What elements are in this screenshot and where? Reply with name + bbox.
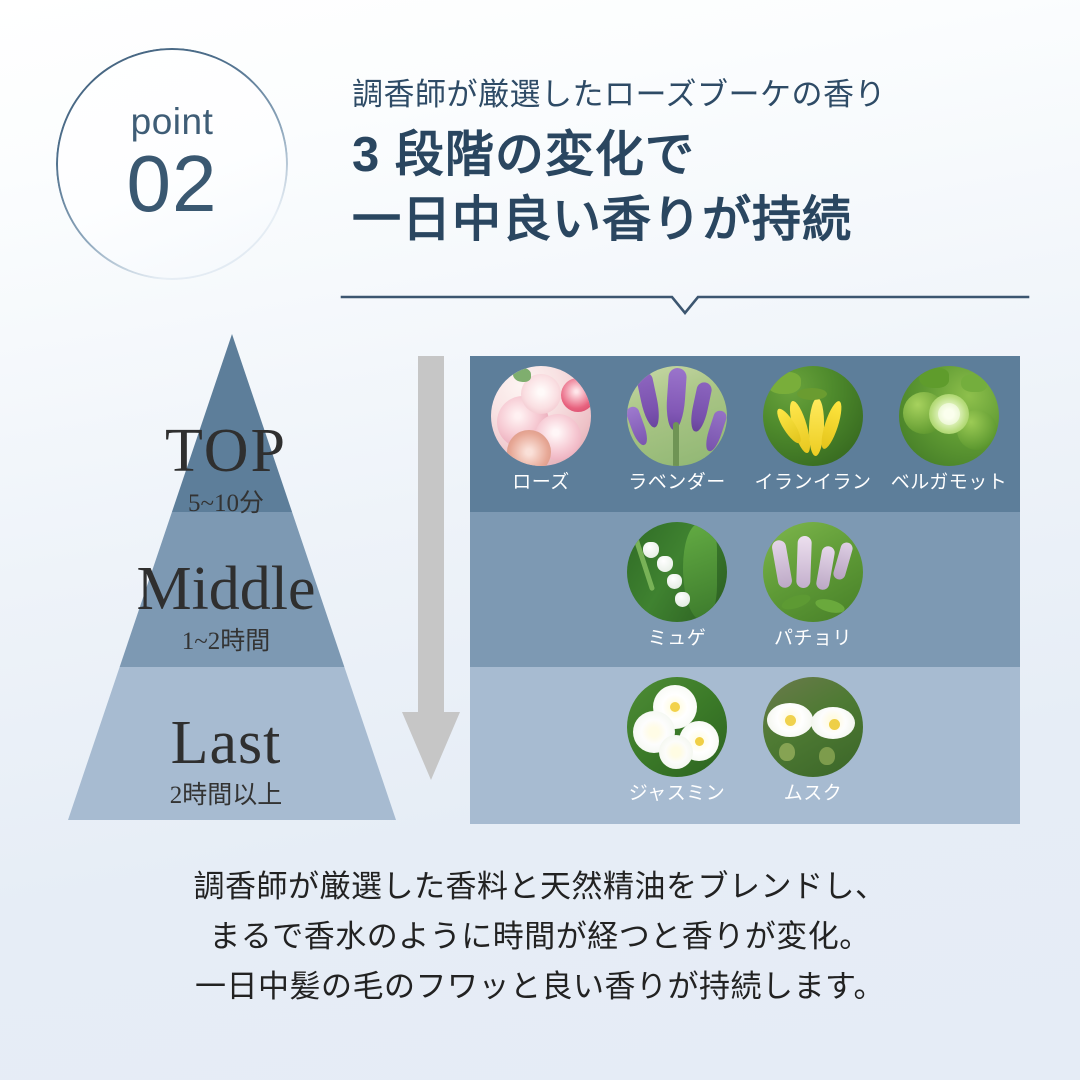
patchouli-photo bbox=[763, 522, 863, 622]
pyramid-stage-top: TOP 5~10分 bbox=[56, 420, 396, 516]
jasmine-photo bbox=[627, 677, 727, 777]
bottom-description: 調香師が厳選した香料と天然精油をブレンドし、 まるで香水のように時間が経つと香り… bbox=[0, 862, 1080, 1013]
note-label: ローズ bbox=[512, 473, 570, 492]
heading-subtitle: 調香師が厳選したローズブーケの香り bbox=[352, 76, 1042, 113]
description-line-2: まるで香水のように時間が経つと香りが変化。 bbox=[0, 912, 1080, 962]
note-item: ベルガモット bbox=[891, 366, 1007, 492]
note-label: ラベンダー bbox=[628, 473, 726, 492]
pyramid-stage-last: Last 2時間以上 bbox=[56, 712, 396, 808]
divider bbox=[340, 283, 1030, 319]
lavender-photo bbox=[627, 366, 727, 466]
note-item: ローズ bbox=[483, 366, 599, 492]
note-label: パチョリ bbox=[774, 629, 852, 648]
stage-name-middle: Middle bbox=[56, 558, 396, 620]
notes-band-top: ローズ ラベンダー イランイラン ベルガモット bbox=[470, 356, 1020, 512]
muguet-photo bbox=[627, 522, 727, 622]
description-line-1: 調香師が厳選した香料と天然精油をブレンドし、 bbox=[0, 862, 1080, 912]
note-label: ミュゲ bbox=[648, 629, 707, 648]
down-arrow-icon bbox=[398, 356, 464, 780]
fragrance-pyramid: TOP 5~10分 Middle 1~2時間 Last 2時間以上 bbox=[56, 330, 406, 826]
flow-arrow bbox=[398, 356, 464, 780]
note-item: ラベンダー bbox=[619, 366, 735, 492]
heading-line-2: 一日中良い香りが持続 bbox=[352, 188, 1042, 253]
point-badge: point 02 bbox=[56, 48, 288, 280]
point-label: point bbox=[131, 103, 214, 140]
stage-time-middle: 1~2時間 bbox=[56, 629, 396, 654]
chevron-down-notch-icon bbox=[340, 283, 1030, 319]
heading-block: 調香師が厳選したローズブーケの香り 3 段階の変化で 一日中良い香りが持続 bbox=[352, 76, 1042, 253]
note-item: ミュゲ bbox=[619, 522, 735, 648]
note-item: ムスク bbox=[755, 677, 871, 803]
note-item: ジャスミン bbox=[619, 677, 735, 803]
notes-band-middle: ミュゲ パチョリ bbox=[470, 512, 1020, 667]
fragrance-notes-grid: ローズ ラベンダー イランイラン ベルガモット bbox=[470, 356, 1020, 824]
point-number: 02 bbox=[127, 142, 218, 226]
stage-time-top: 5~10分 bbox=[56, 491, 396, 516]
description-line-3: 一日中髪の毛のフワッと良い香りが持続します。 bbox=[0, 962, 1080, 1012]
note-item: イランイラン bbox=[755, 366, 871, 492]
pyramid-stage-middle: Middle 1~2時間 bbox=[56, 558, 396, 654]
rose-photo bbox=[491, 366, 591, 466]
bergamot-photo bbox=[899, 366, 999, 466]
note-label: ジャスミン bbox=[629, 784, 726, 803]
musk-photo bbox=[763, 677, 863, 777]
heading-line-1: 3 段階の変化で bbox=[352, 123, 1042, 188]
note-label: ムスク bbox=[784, 784, 843, 803]
stage-name-top: TOP bbox=[56, 420, 396, 482]
stage-time-last: 2時間以上 bbox=[56, 783, 396, 808]
notes-band-last: ジャスミン ムスク bbox=[470, 667, 1020, 824]
note-item: パチョリ bbox=[755, 522, 871, 648]
ylang-ylang-photo bbox=[763, 366, 863, 466]
note-label: ベルガモット bbox=[891, 473, 1007, 492]
note-label: イランイラン bbox=[755, 473, 872, 492]
stage-name-last: Last bbox=[56, 712, 396, 774]
